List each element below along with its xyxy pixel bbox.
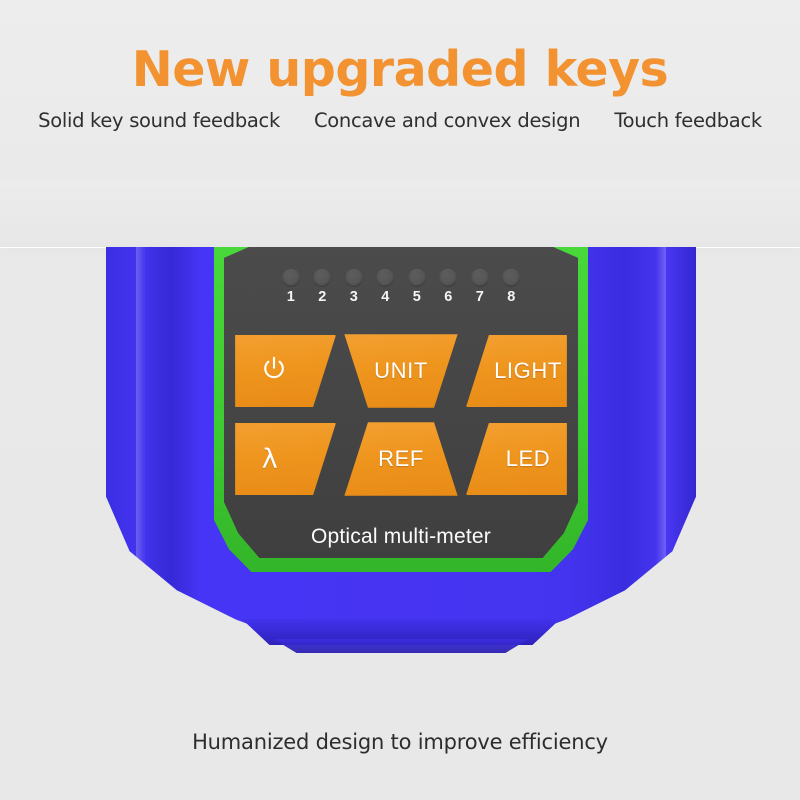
- led-number-label: 2: [313, 290, 331, 305]
- led-indicator-7: 7: [471, 269, 489, 305]
- led-indicator-row: 1 2 3 4 5 6 7: [224, 269, 578, 305]
- led-dot-icon: [408, 269, 426, 287]
- optical-multimeter-device: 1 2 3 4 5 6 7: [106, 247, 696, 662]
- led-indicator-6: 6: [439, 269, 457, 305]
- feature-item-touch: Touch feedback: [614, 109, 762, 132]
- led-button-label: LED: [506, 446, 551, 472]
- led-number-label: 8: [502, 290, 520, 305]
- led-dot-icon: [345, 269, 363, 287]
- led-dot-icon: [502, 269, 520, 287]
- device-base-lip-lower: [256, 639, 546, 653]
- led-number-label: 5: [408, 290, 426, 305]
- unit-button-label: UNIT: [374, 358, 428, 384]
- feature-item-sound: Solid key sound feedback: [38, 109, 280, 132]
- led-dot-icon: [439, 269, 457, 287]
- led-number-label: 3: [345, 290, 363, 305]
- ref-button-label: REF: [378, 446, 424, 472]
- led-dot-icon: [282, 269, 300, 287]
- led-number-label: 7: [471, 290, 489, 305]
- led-indicator-5: 5: [408, 269, 426, 305]
- backdrop-upper: [0, 180, 800, 247]
- ref-button[interactable]: REF: [342, 419, 460, 499]
- led-indicator-4: 4: [376, 269, 394, 305]
- footer-caption: Humanized design to improve efficiency: [0, 730, 800, 754]
- light-button[interactable]: LIGHT: [466, 331, 570, 411]
- feature-item-design: Concave and convex design: [314, 109, 580, 132]
- led-number-label: 1: [282, 290, 300, 305]
- shell-highlight-left: [136, 247, 146, 577]
- light-button-label: LIGHT: [494, 358, 562, 384]
- led-dot-icon: [471, 269, 489, 287]
- keypad-panel: 1 2 3 4 5 6 7: [224, 247, 578, 558]
- led-button[interactable]: LED: [466, 419, 570, 499]
- feature-list: Solid key sound feedback Concave and con…: [0, 109, 800, 132]
- power-icon: [259, 354, 289, 388]
- wavelength-icon: λ: [262, 446, 279, 473]
- power-button[interactable]: [232, 331, 336, 411]
- led-dot-icon: [376, 269, 394, 287]
- unit-button[interactable]: UNIT: [342, 331, 460, 411]
- led-indicator-2: 2: [313, 269, 331, 305]
- led-number-label: 4: [376, 290, 394, 305]
- promo-header: New upgraded keys Solid key sound feedba…: [0, 0, 800, 132]
- wavelength-button[interactable]: λ: [232, 419, 336, 499]
- page-title: New upgraded keys: [0, 0, 800, 97]
- led-indicator-1: 1: [282, 269, 300, 305]
- led-indicator-8: 8: [502, 269, 520, 305]
- led-dot-icon: [313, 269, 331, 287]
- shell-highlight-right: [656, 247, 666, 577]
- led-number-label: 6: [439, 290, 457, 305]
- keypad-grid: UNIT LIGHT λ REF LED: [232, 331, 570, 511]
- led-indicator-3: 3: [345, 269, 363, 305]
- device-model-label: Optical multi-meter: [224, 525, 578, 549]
